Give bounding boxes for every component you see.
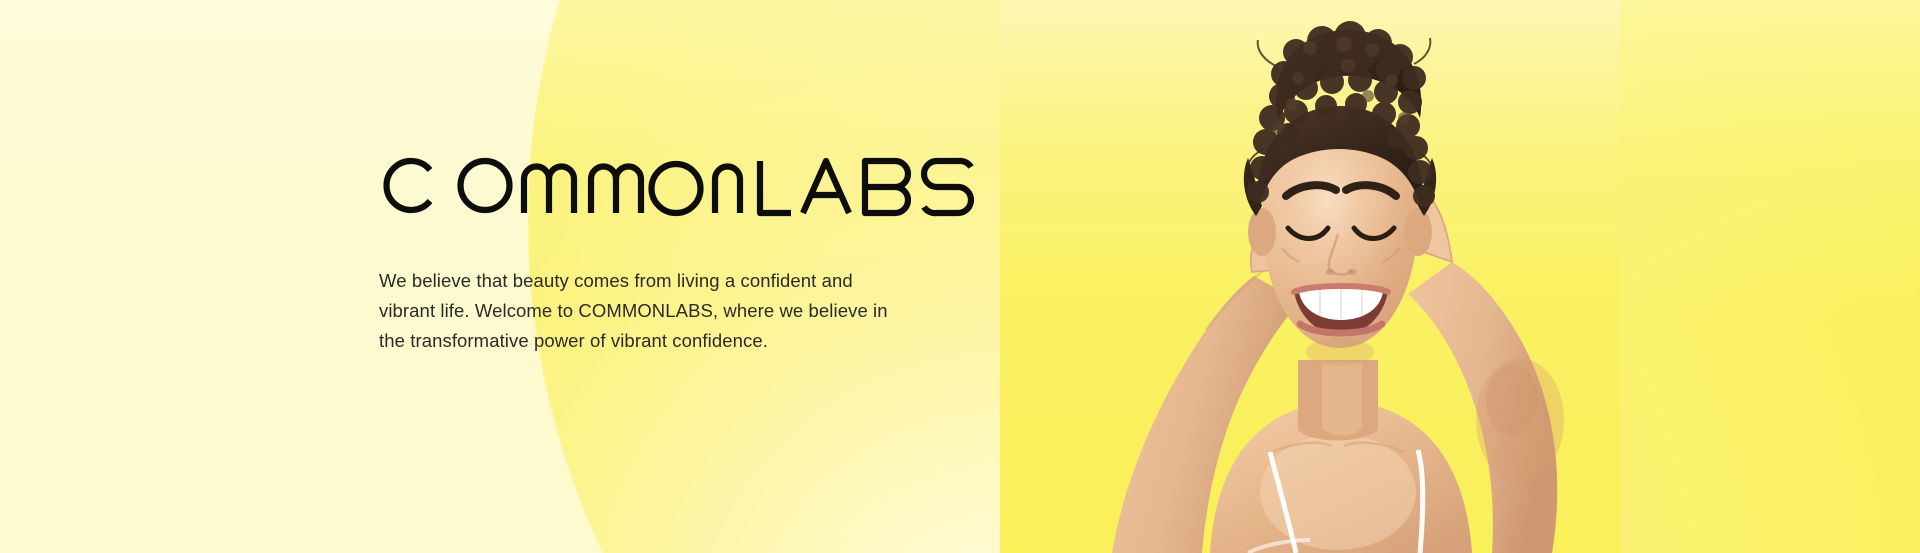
hero-banner: We believe that beauty comes from living…: [0, 0, 1920, 553]
brand-logo[interactable]: [379, 150, 994, 220]
hero-photo: [1000, 0, 1620, 553]
hero-copy-block: We believe that beauty comes from living…: [379, 150, 1019, 356]
hero-tagline: We believe that beauty comes from living…: [379, 266, 909, 356]
